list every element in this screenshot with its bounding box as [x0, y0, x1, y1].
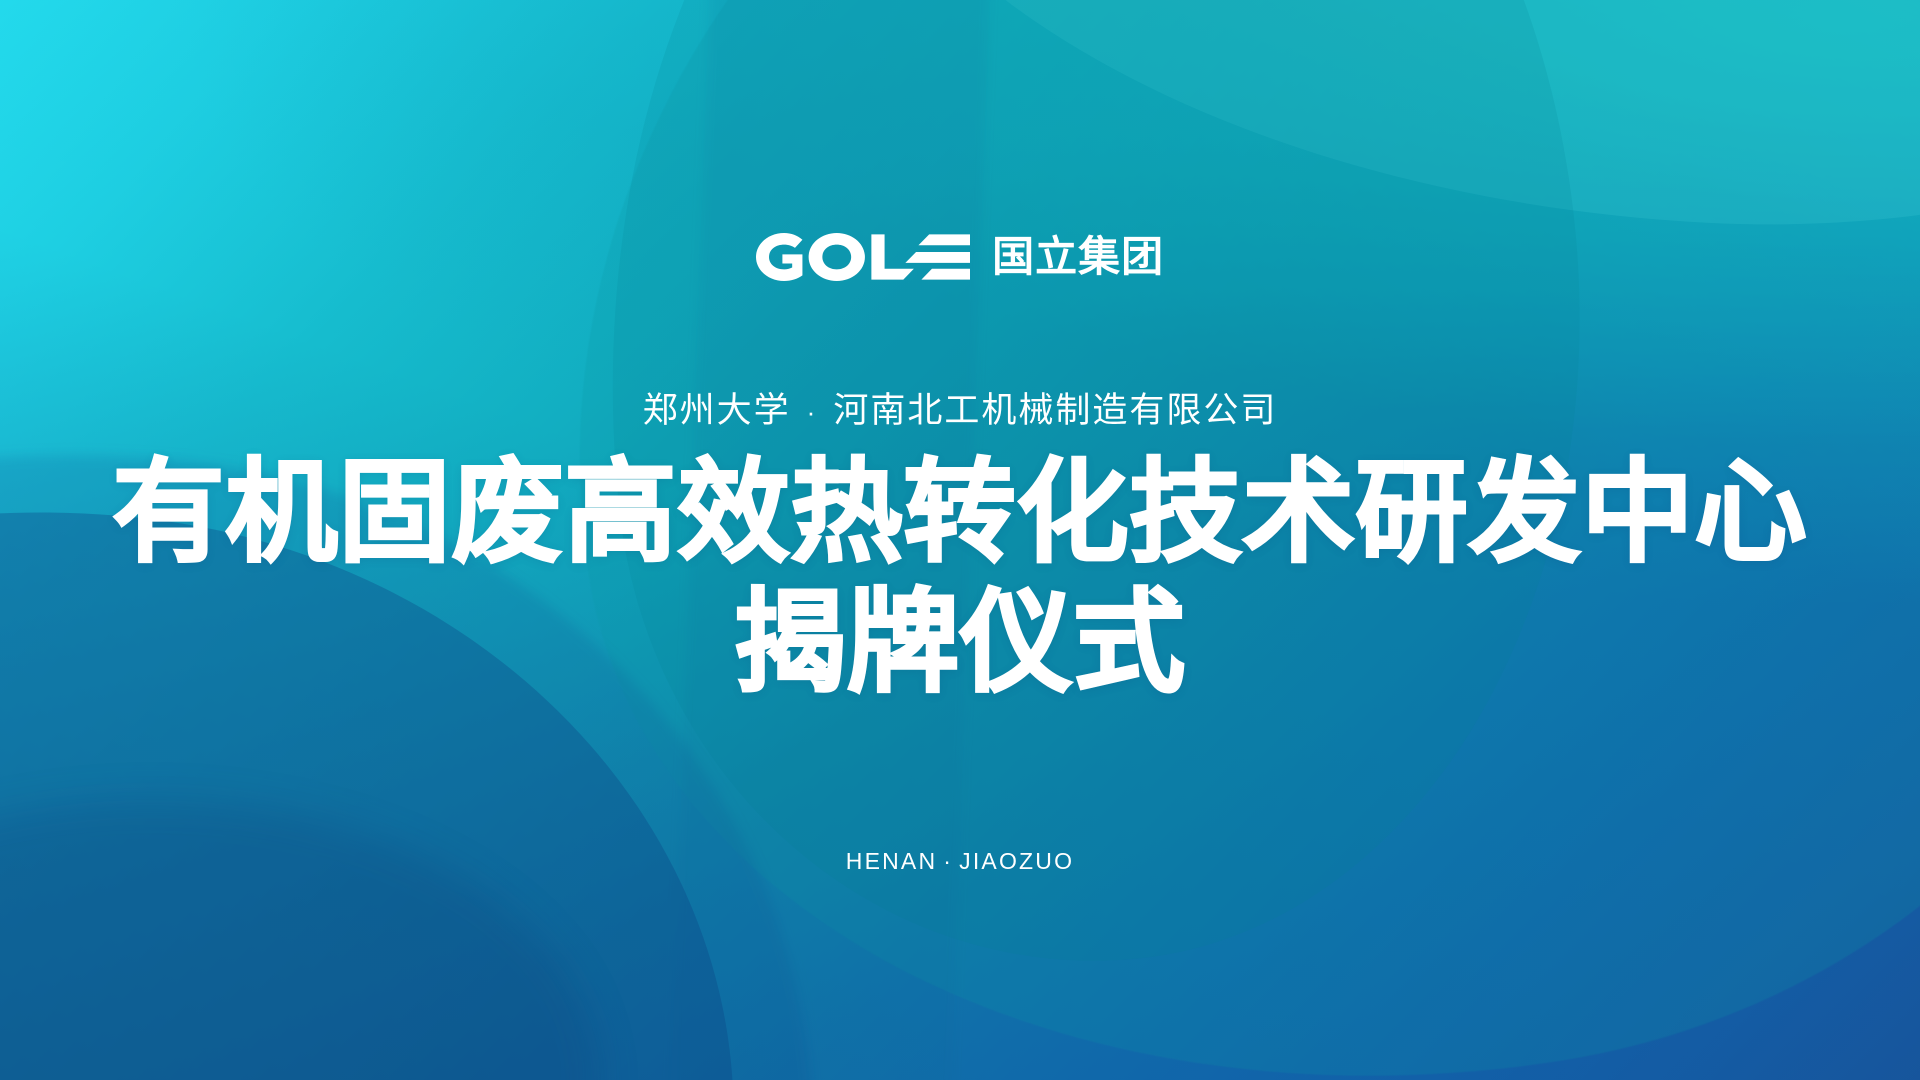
location-footer: HENAN·JIAOZUO [0, 848, 1920, 875]
subtitle-separator: · [791, 397, 834, 427]
brand-logo: 国立集团 [0, 228, 1920, 286]
logo-chinese-name: 国立集团 [992, 236, 1164, 278]
organizations-subtitle: 郑州大学·河南北工机械制造有限公司 [0, 382, 1920, 433]
title-line-2: 揭牌仪式 [0, 578, 1920, 708]
subtitle-left-org: 郑州大学 [643, 391, 791, 430]
title-slide: 国立集团 郑州大学·河南北工机械制造有限公司 有机固废高效热转化技术研发中心 揭… [0, 0, 1920, 1080]
footer-city: JIAOZUO [959, 848, 1074, 874]
gole-wordmark-icon [756, 233, 970, 281]
footer-province: HENAN [846, 848, 938, 874]
slide-content: 国立集团 郑州大学·河南北工机械制造有限公司 有机固废高效热转化技术研发中心 揭… [0, 0, 1920, 1080]
page-title: 有机固废高效热转化技术研发中心 揭牌仪式 [0, 448, 1920, 708]
title-line-1: 有机固废高效热转化技术研发中心 [0, 448, 1920, 578]
subtitle-right-org: 河南北工机械制造有限公司 [833, 391, 1277, 430]
footer-separator: · [937, 848, 959, 874]
